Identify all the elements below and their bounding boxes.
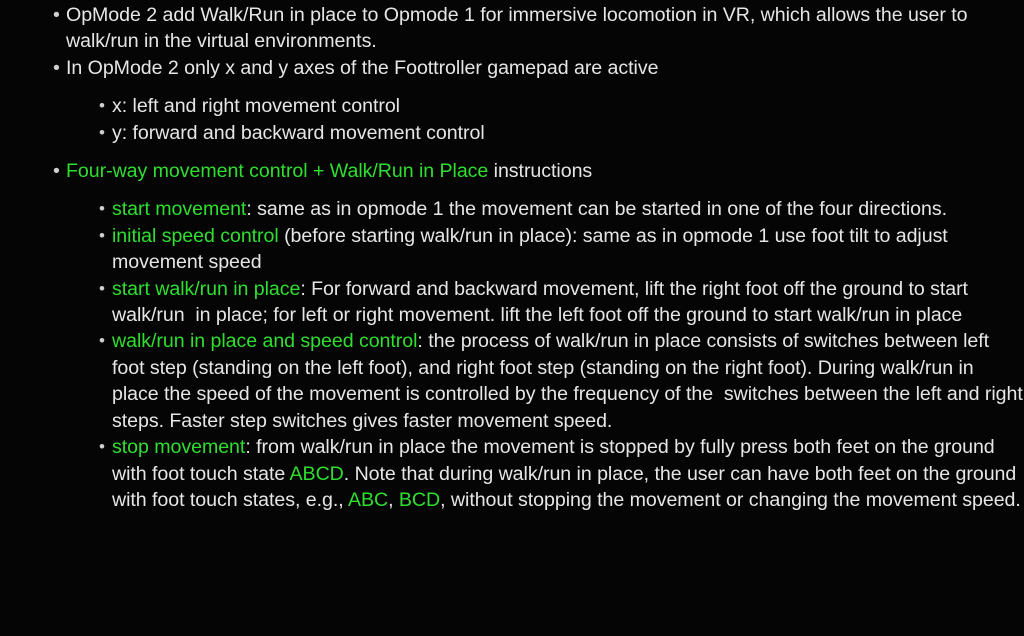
bullet-item: •walk/run in place and speed control: th…: [0, 328, 1024, 434]
bullet-glyph: •: [99, 226, 105, 245]
body-text-run: : same as in opmode 1 the movement can b…: [246, 198, 947, 220]
bullet-glyph: •: [99, 437, 105, 456]
bullet-item: •stop movement: from walk/run in place t…: [0, 434, 1024, 513]
bullet-glyph: •: [99, 123, 105, 142]
bullet-list: •OpMode 2 add Walk/Run in place to Opmod…: [0, 2, 1024, 513]
bullet-item: •y: forward and backward movement contro…: [0, 120, 1024, 146]
bullet-item: •initial speed control (before starting …: [0, 223, 1024, 276]
bullet-dot-icon: •: [99, 434, 112, 460]
bullet-dot-icon: •: [99, 276, 112, 302]
bullet-dot-icon: •: [53, 2, 66, 28]
highlight-term: ABC: [348, 489, 388, 511]
bullet-text: In OpMode 2 only x and y axes of the Foo…: [66, 55, 1024, 81]
bullet-dot-icon: •: [99, 93, 112, 119]
bullet-text: stop movement: from walk/run in place th…: [112, 434, 1024, 513]
bullet-item: •In OpMode 2 only x and y axes of the Fo…: [0, 55, 1024, 81]
bullet-item: •OpMode 2 add Walk/Run in place to Opmod…: [0, 2, 1024, 55]
highlight-term: start walk/run in place: [112, 278, 300, 300]
bullet-dot-icon: •: [99, 196, 112, 222]
bullet-dot-icon: •: [99, 223, 112, 249]
bullet-text: x: left and right movement control: [112, 93, 1024, 119]
bullet-dot-icon: •: [99, 328, 112, 354]
bullet-glyph: •: [99, 199, 105, 218]
highlight-term: walk/run in place and speed control: [112, 330, 417, 352]
bullet-item: •x: left and right movement control: [0, 93, 1024, 119]
bullet-glyph: •: [99, 96, 105, 115]
bullet-text: OpMode 2 add Walk/Run in place to Opmode…: [66, 2, 1024, 55]
body-text-run: ,: [388, 489, 399, 511]
body-text-run: , without stopping the movement or chang…: [440, 489, 1021, 511]
bullet-item: •start walk/run in place: For forward an…: [0, 276, 1024, 329]
bullet-text: y: forward and backward movement control: [112, 120, 1024, 146]
bullet-dot-icon: •: [53, 158, 66, 184]
bullet-text: start walk/run in place: For forward and…: [112, 276, 1024, 329]
bullet-text: walk/run in place and speed control: the…: [112, 328, 1024, 434]
bullet-dot-icon: •: [53, 55, 66, 81]
highlight-term: BCD: [399, 489, 440, 511]
body-text-run: In OpMode 2 only x and y axes of the Foo…: [66, 57, 658, 79]
bullet-item: •start movement: same as in opmode 1 the…: [0, 196, 1024, 222]
body-text-run: OpMode 2 add Walk/Run in place to Opmode…: [66, 4, 973, 52]
highlight-term: start movement: [112, 198, 246, 220]
body-text-run: instructions: [488, 160, 592, 182]
body-text-run: x: left and right movement control: [112, 95, 400, 117]
bullet-item: •Four-way movement control + Walk/Run in…: [0, 158, 1024, 184]
bullet-dot-icon: •: [99, 120, 112, 146]
bullet-glyph: •: [99, 279, 105, 298]
slide-canvas: •OpMode 2 add Walk/Run in place to Opmod…: [0, 0, 1024, 636]
bullet-glyph: •: [53, 160, 60, 182]
highlight-term: Four-way movement control + Walk/Run in …: [66, 160, 488, 182]
bullet-text: start movement: same as in opmode 1 the …: [112, 196, 1024, 222]
bullet-glyph: •: [53, 4, 60, 26]
bullet-glyph: •: [99, 331, 105, 350]
bullet-text: Four-way movement control + Walk/Run in …: [66, 158, 1024, 184]
body-text-run: y: forward and backward movement control: [112, 122, 485, 144]
bullet-text: initial speed control (before starting w…: [112, 223, 1024, 276]
highlight-term: initial speed control: [112, 225, 279, 247]
highlight-term: ABCD: [290, 463, 344, 485]
bullet-glyph: •: [53, 57, 60, 79]
highlight-term: stop movement: [112, 436, 245, 458]
